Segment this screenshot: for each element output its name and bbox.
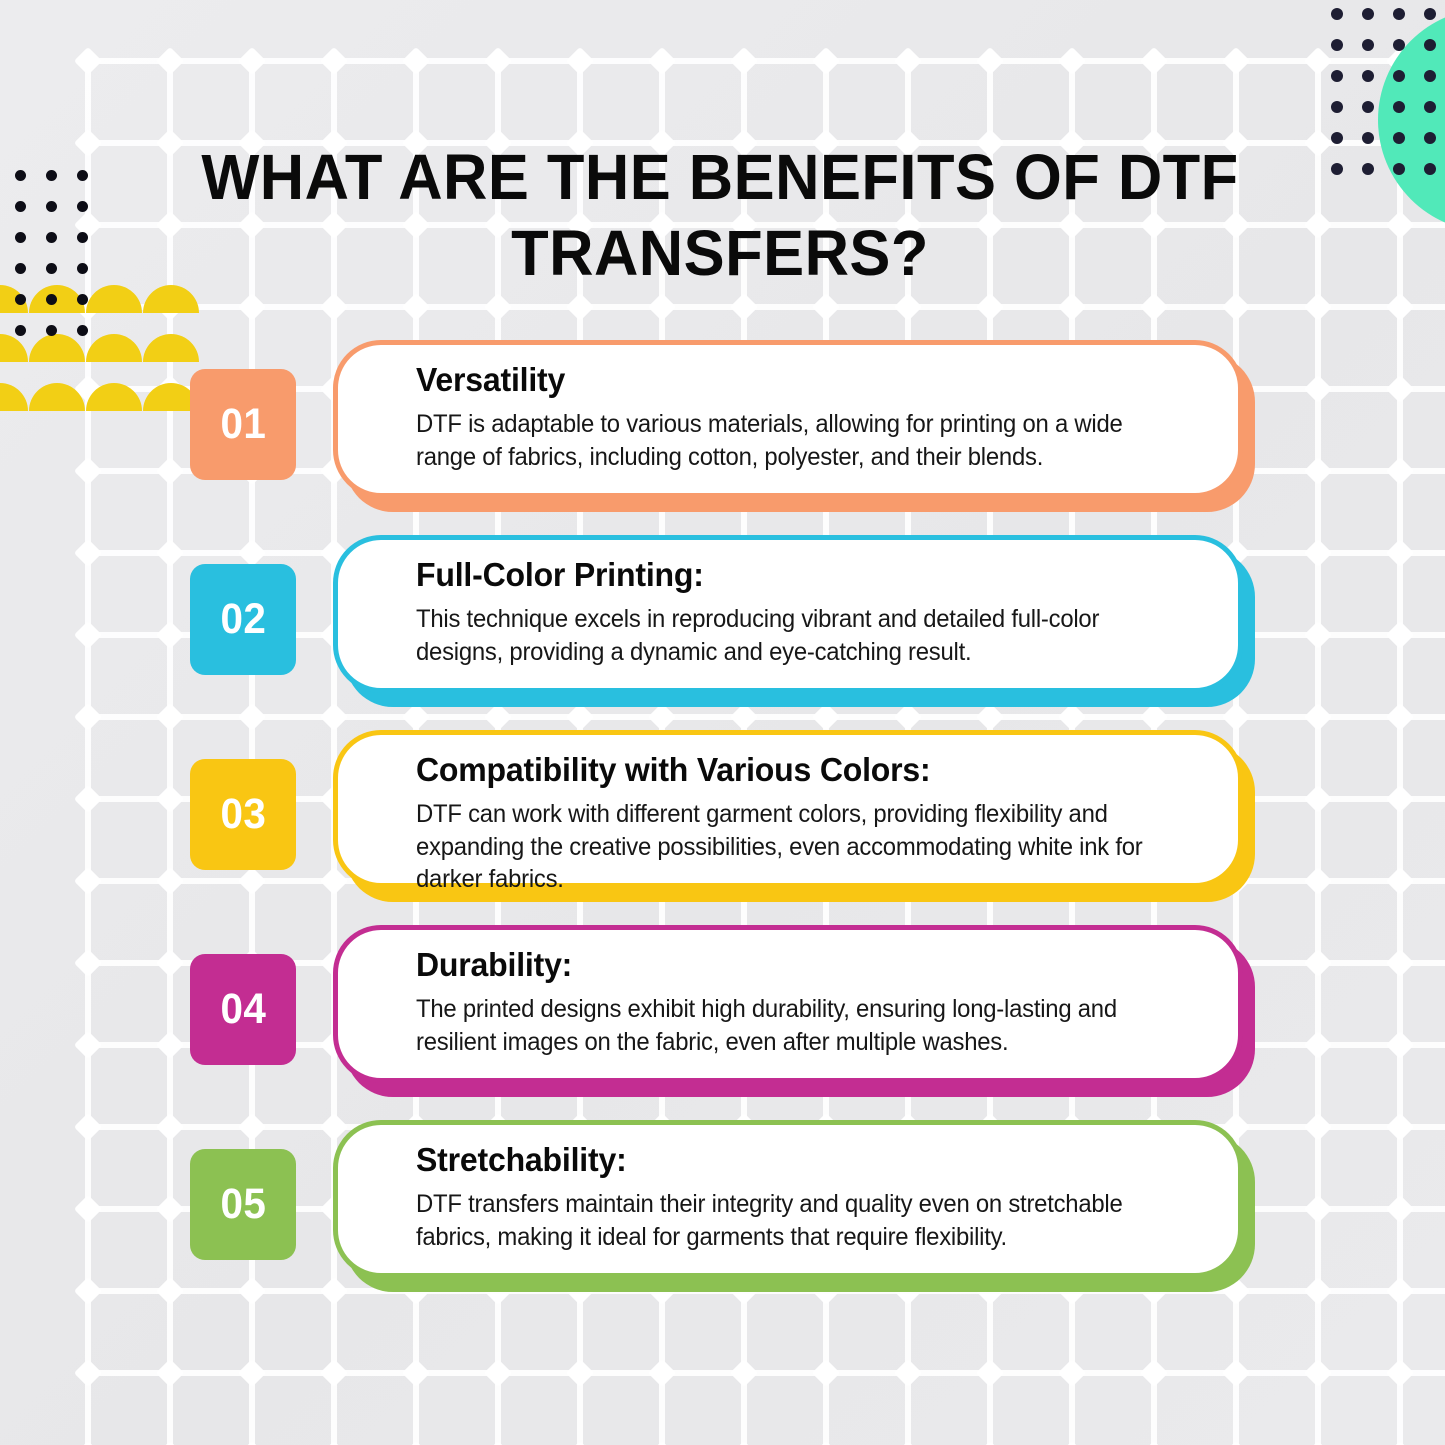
benefit-row: 03Compatibility with Various Colors:DTF … bbox=[0, 730, 1445, 925]
benefit-number-label: 01 bbox=[220, 400, 266, 449]
benefit-number-label: 04 bbox=[220, 985, 266, 1034]
benefit-number-badge[interactable]: 02 bbox=[190, 564, 296, 675]
teal-circle-decoration bbox=[1378, 8, 1445, 232]
benefit-card[interactable]: VersatilityDTF is adaptable to various m… bbox=[333, 340, 1255, 512]
benefit-heading: Stretchability: bbox=[416, 1142, 1175, 1178]
benefit-card[interactable]: Compatibility with Various Colors:DTF ca… bbox=[333, 730, 1255, 902]
benefit-card[interactable]: Durability:The printed designs exhibit h… bbox=[333, 925, 1255, 1097]
benefit-row: 05Stretchability:DTF transfers maintain … bbox=[0, 1120, 1445, 1315]
benefit-number-badge[interactable]: 04 bbox=[190, 954, 296, 1065]
benefit-card-body: VersatilityDTF is adaptable to various m… bbox=[333, 340, 1243, 498]
benefit-description: The printed designs exhibit high durabil… bbox=[416, 993, 1163, 1058]
benefit-description: DTF is adaptable to various materials, a… bbox=[416, 408, 1163, 473]
benefit-description: DTF can work with different garment colo… bbox=[416, 798, 1163, 896]
benefit-heading: Full-Color Printing: bbox=[416, 557, 1175, 593]
benefit-card-body: Full-Color Printing:This technique excel… bbox=[333, 535, 1243, 693]
benefit-number-badge[interactable]: 05 bbox=[190, 1149, 296, 1260]
benefit-heading: Compatibility with Various Colors: bbox=[416, 752, 1175, 788]
benefit-heading: Durability: bbox=[416, 947, 1175, 983]
benefit-number-badge[interactable]: 03 bbox=[190, 759, 296, 870]
benefit-row: 04Durability:The printed designs exhibit… bbox=[0, 925, 1445, 1120]
benefit-card[interactable]: Stretchability:DTF transfers maintain th… bbox=[333, 1120, 1255, 1292]
page-title: WHAT ARE THE BENEFITS OF DTF TRANSFERS? bbox=[182, 140, 1257, 291]
benefit-card-body: Compatibility with Various Colors:DTF ca… bbox=[333, 730, 1243, 888]
benefit-description: DTF transfers maintain their integrity a… bbox=[416, 1188, 1163, 1253]
benefit-number-label: 02 bbox=[220, 595, 266, 644]
infographic-canvas: WHAT ARE THE BENEFITS OF DTF TRANSFERS? … bbox=[0, 0, 1445, 1445]
benefit-number-badge[interactable]: 01 bbox=[190, 369, 296, 480]
benefit-card-body: Stretchability:DTF transfers maintain th… bbox=[333, 1120, 1243, 1278]
benefit-number-label: 03 bbox=[220, 790, 266, 839]
benefit-row: 02Full-Color Printing:This technique exc… bbox=[0, 535, 1445, 730]
benefit-description: This technique excels in reproducing vib… bbox=[416, 603, 1163, 668]
benefit-heading: Versatility bbox=[416, 362, 1175, 398]
benefit-number-label: 05 bbox=[220, 1180, 266, 1229]
benefits-list: 01VersatilityDTF is adaptable to various… bbox=[0, 340, 1445, 1315]
benefit-row: 01VersatilityDTF is adaptable to various… bbox=[0, 340, 1445, 535]
benefit-card[interactable]: Full-Color Printing:This technique excel… bbox=[333, 535, 1255, 707]
benefit-card-body: Durability:The printed designs exhibit h… bbox=[333, 925, 1243, 1083]
